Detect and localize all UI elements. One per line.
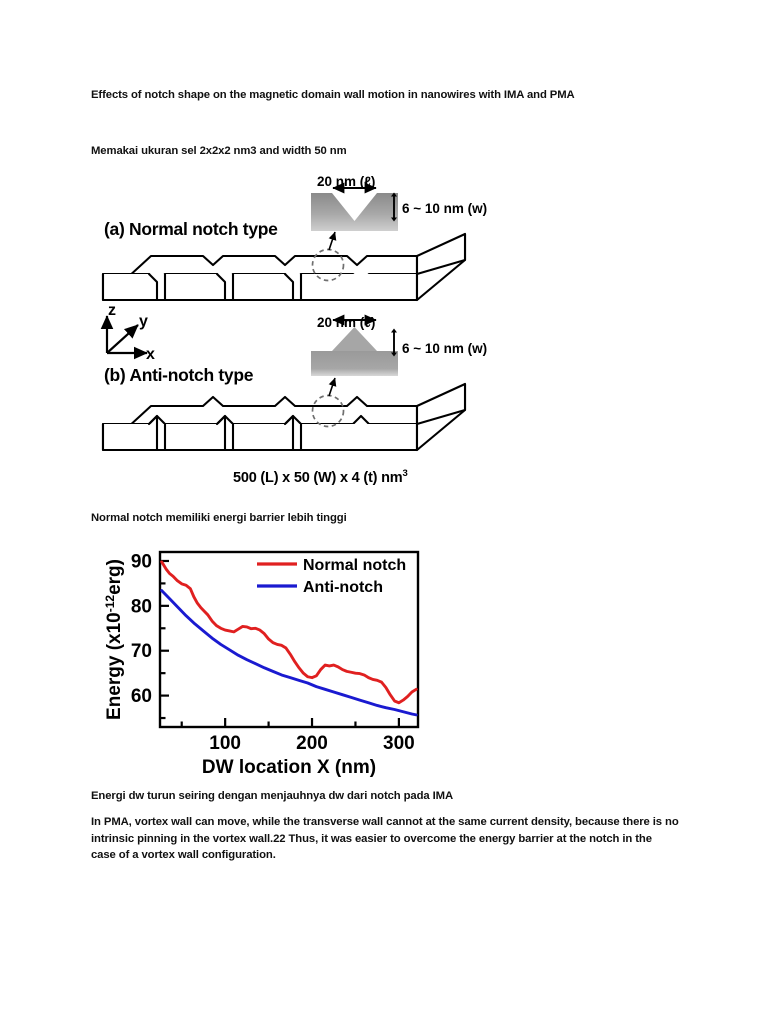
panel-a-label: (a) Normal notch type <box>104 219 278 240</box>
x-axis-title: DW location X (nm) <box>202 757 376 778</box>
x-tick-label: 300 <box>383 733 415 754</box>
x-tick-label: 100 <box>209 733 241 754</box>
antinotch-width-label: 6 ~ 10 nm (w) <box>402 341 487 356</box>
cell-size-note: Memakai ukuran sel 2x2x2 nm3 and width 5… <box>91 143 691 160</box>
y-tick-label: 60 <box>131 686 152 707</box>
normal-notch-callout-arrow <box>329 232 335 250</box>
energy-chart-svg: 60708090100200300DW location X (nm)Energ… <box>100 544 430 784</box>
notch-width-label: 6 ~ 10 nm (w) <box>402 201 487 216</box>
y-tick-label: 90 <box>131 551 152 572</box>
anti-notch-callout-arrow <box>329 378 335 396</box>
energy-chart: 60708090100200300DW location X (nm)Energ… <box>100 544 430 784</box>
document-title: Effects of notch shape on the magnetic d… <box>91 87 731 104</box>
pma-paragraph: In PMA, vortex wall can move, while the … <box>91 814 679 864</box>
x-tick-label: 200 <box>296 733 328 754</box>
document-page: Effects of notch shape on the magnetic d… <box>0 0 768 1024</box>
barrier-note: Normal notch memiliki energi barrier leb… <box>91 510 691 527</box>
axis-x-label: x <box>146 346 155 364</box>
notch-inset-graphic <box>311 188 398 231</box>
y-tick-label: 80 <box>131 596 152 617</box>
dimension-caption: 500 (L) x 50 (W) x 4 (t) nm3 <box>233 468 408 486</box>
figure-panel: (a) Normal notch type (b) Anti-notch typ… <box>85 168 685 498</box>
anti-notch-slab <box>103 384 465 450</box>
antinotch-length-label: 20 nm (ℓ) <box>317 315 375 330</box>
y-tick-label: 70 <box>131 641 152 662</box>
dimension-caption-text: 500 (L) x 50 (W) x 4 (t) nm <box>233 470 402 486</box>
y-axis-title: Energy (x10-12erg) <box>103 559 125 720</box>
notch-length-label: 20 nm (ℓ) <box>317 174 375 189</box>
normal-notch-callout <box>313 250 344 281</box>
figure-vector-layer <box>85 168 685 498</box>
anti-notch-callout <box>313 396 344 427</box>
ima-note: Energi dw turun seiring dengan menjauhny… <box>91 788 691 805</box>
legend-label: Anti-notch <box>303 579 383 596</box>
axis-z-label: z <box>108 302 116 320</box>
normal-notch-slab <box>103 234 465 300</box>
panel-b-label: (b) Anti-notch type <box>104 365 253 386</box>
axis-y-label: y <box>139 313 148 331</box>
legend-label: Normal notch <box>303 557 406 574</box>
dimension-caption-superscript: 3 <box>402 468 407 479</box>
